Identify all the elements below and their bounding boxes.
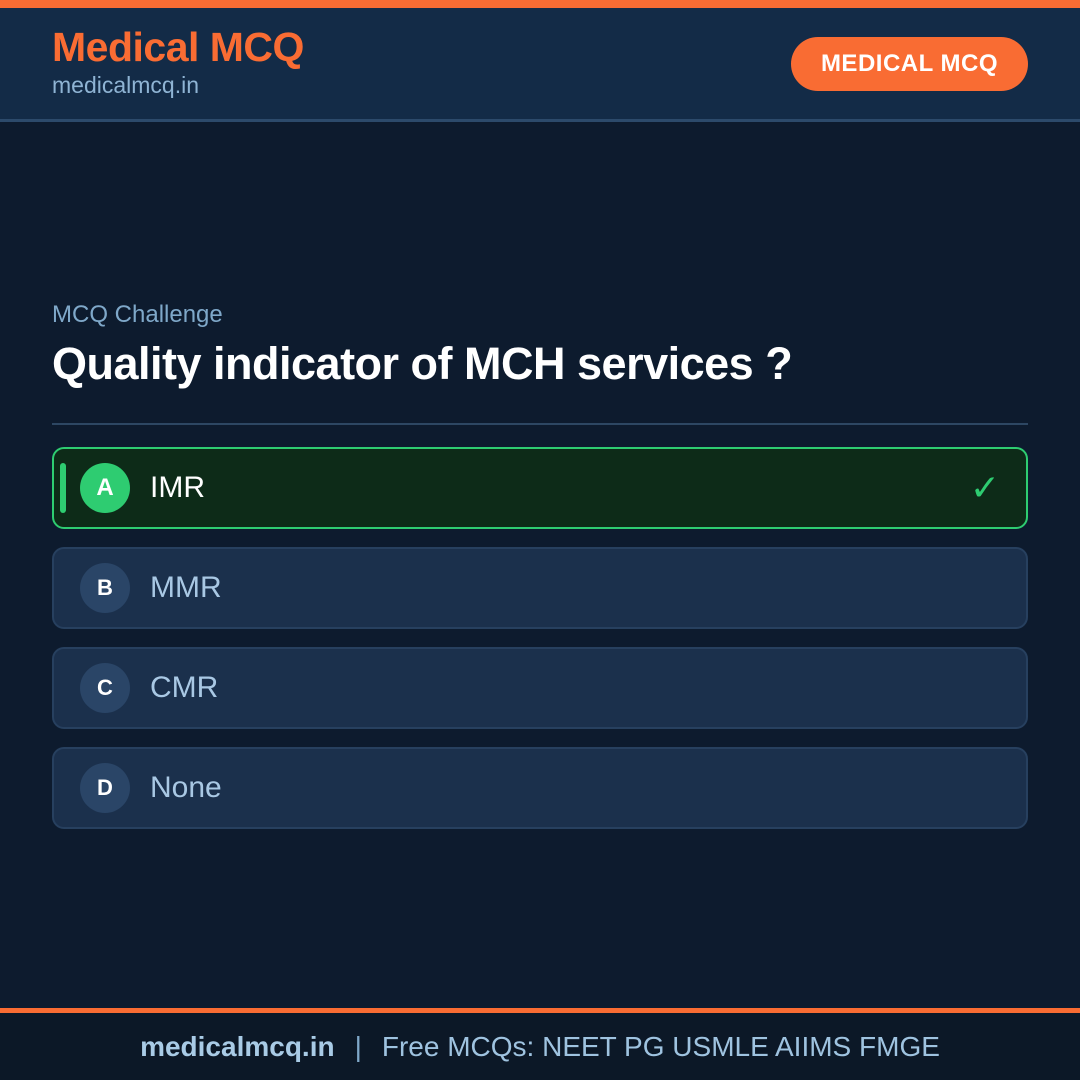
page-footer: medicalmcq.in | Free MCQs: NEET PG USMLE… xyxy=(0,1008,1080,1080)
question-text: Quality indicator of MCH services ? xyxy=(52,338,1028,389)
brand: Medical MCQ medicalmcq.in xyxy=(52,26,304,101)
option-b-letter: B xyxy=(80,563,130,613)
header-badge[interactable]: MEDICAL MCQ xyxy=(791,37,1028,91)
correct-accent-bar xyxy=(60,463,66,513)
footer-separator: | xyxy=(349,1031,368,1063)
mcq-card: Medical MCQ medicalmcq.in MEDICAL MCQ MC… xyxy=(0,0,1080,1080)
option-b[interactable]: B MMR xyxy=(52,547,1028,629)
main-content: MCQ Challenge Quality indicator of MCH s… xyxy=(0,122,1080,1008)
option-d-text: None xyxy=(150,773,222,803)
option-b-text: MMR xyxy=(150,573,222,603)
question-divider xyxy=(52,423,1028,425)
option-d[interactable]: D None xyxy=(52,747,1028,829)
option-a-text: IMR xyxy=(150,473,205,503)
top-accent-bar xyxy=(0,0,1080,8)
option-a-letter: A xyxy=(80,463,130,513)
option-c-text: CMR xyxy=(150,673,218,703)
brand-subtitle: medicalmcq.in xyxy=(52,71,304,101)
brand-title: Medical MCQ xyxy=(52,26,304,69)
footer-site[interactable]: medicalmcq.in xyxy=(140,1031,335,1063)
option-c[interactable]: C CMR xyxy=(52,647,1028,729)
eyebrow-label: MCQ Challenge xyxy=(52,301,1028,330)
page-header: Medical MCQ medicalmcq.in MEDICAL MCQ xyxy=(0,8,1080,122)
option-c-letter: C xyxy=(80,663,130,713)
option-d-letter: D xyxy=(80,763,130,813)
footer-content: medicalmcq.in | Free MCQs: NEET PG USMLE… xyxy=(140,1031,940,1063)
option-a[interactable]: A IMR ✓ xyxy=(52,447,1028,529)
options-list: A IMR ✓ B MMR C CMR D None xyxy=(52,447,1028,829)
check-icon: ✓ xyxy=(970,470,1000,506)
footer-exams: Free MCQs: NEET PG USMLE AIIMS FMGE xyxy=(382,1031,940,1063)
